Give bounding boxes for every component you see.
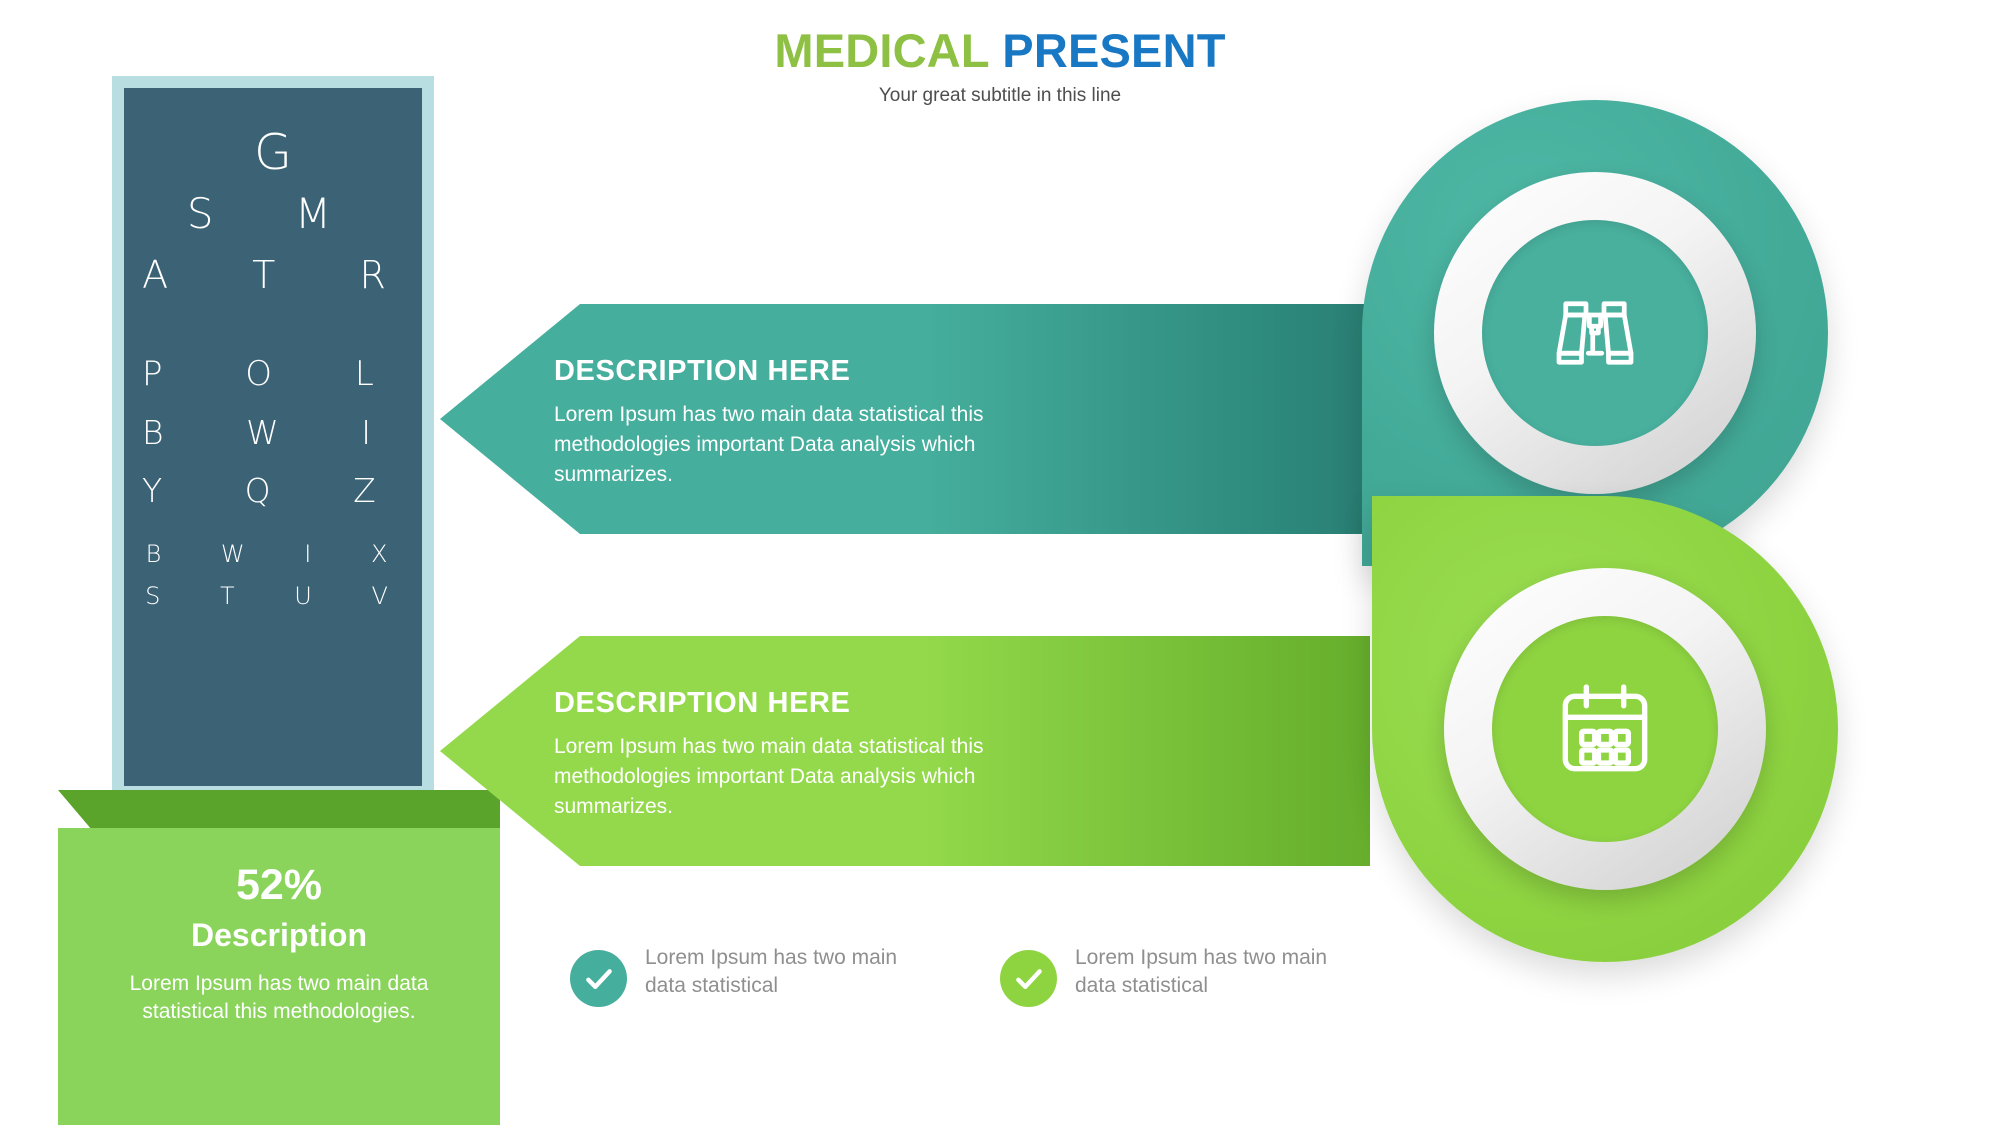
pin-core <box>1492 616 1718 842</box>
eye-chart-row: G <box>124 124 422 181</box>
banner-body: Lorem Ipsum has two main data statistica… <box>554 400 1094 489</box>
check-icon <box>570 950 627 1007</box>
banner-body: Lorem Ipsum has two main data statistica… <box>554 732 1094 821</box>
eye-chart-row: A T R <box>124 253 422 297</box>
description-banner-teal[interactable]: DESCRIPTION HERE Lorem Ipsum has two mai… <box>440 304 1370 534</box>
calendar-icon <box>1549 673 1661 785</box>
eye-chart-row: Y Q Z H <box>124 471 422 510</box>
check-icon <box>1000 950 1057 1007</box>
stat-label: Description <box>104 918 454 953</box>
description-banner-green[interactable]: DESCRIPTION HERE Lorem Ipsum has two mai… <box>440 636 1370 866</box>
pin-badge-calendar[interactable] <box>1372 496 1838 962</box>
page-title: MEDICAL PRESENT <box>0 26 2000 75</box>
check-item[interactable]: Lorem Ipsum has two main data statistica… <box>570 940 900 1007</box>
binoculars-icon <box>1541 279 1649 387</box>
eye-chart-frame: G S M A T R P O L N B W I X Y Q Z H B W … <box>112 76 434 798</box>
stat-value: 52% <box>104 862 454 909</box>
eye-chart-row: S M <box>124 189 422 238</box>
stat-box: 52% Description Lorem Ipsum has two main… <box>58 790 500 1125</box>
eye-chart-row: S T U V <box>124 582 422 610</box>
eye-chart-row: B W I X <box>124 540 422 568</box>
banner-title: DESCRIPTION HERE <box>554 356 1370 388</box>
check-item-label: Lorem Ipsum has two main data statistica… <box>645 940 900 1000</box>
pin-core <box>1482 220 1708 446</box>
banner-title: DESCRIPTION HERE <box>554 688 1370 720</box>
stat-description: Lorem Ipsum has two main data statistica… <box>104 970 454 1025</box>
check-item[interactable]: Lorem Ipsum has two main data statistica… <box>1000 940 1330 1007</box>
stat-box-body: 52% Description Lorem Ipsum has two main… <box>58 828 500 1125</box>
stat-box-bevel <box>58 790 500 830</box>
eye-chart-board: G S M A T R P O L N B W I X Y Q Z H B W … <box>124 88 422 786</box>
title-word-medical: MEDICAL <box>774 24 989 77</box>
title-word-present: PRESENT <box>1002 24 1225 77</box>
check-item-label: Lorem Ipsum has two main data statistica… <box>1075 940 1330 1000</box>
eye-chart-row: P O L N <box>124 354 422 394</box>
eye-chart-row: B W I X <box>124 413 422 452</box>
slide-canvas: MEDICAL PRESENT Your great subtitle in t… <box>0 0 2000 1125</box>
